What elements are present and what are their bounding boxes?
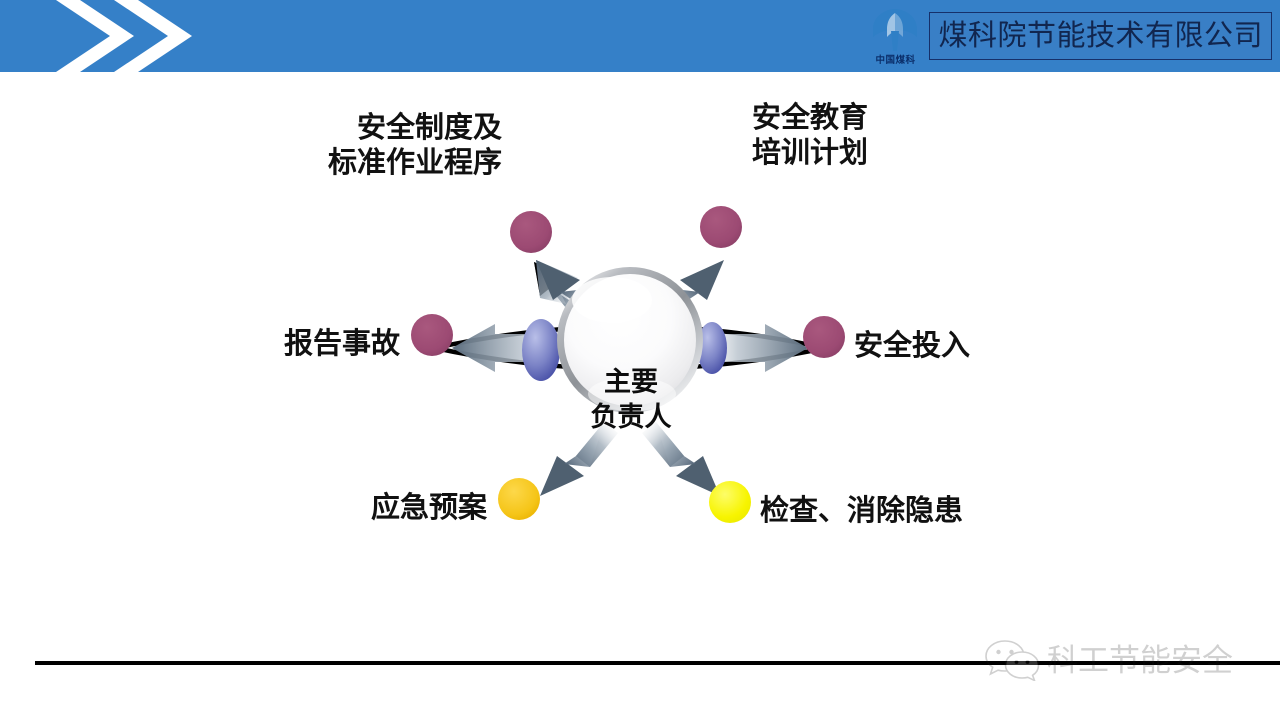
- node-top-right-label: 安全教育 培训计划: [752, 100, 1042, 170]
- node-top-right-dot[interactable]: [700, 206, 742, 248]
- header-bar: 中国煤科 煤科院节能技术有限公司: [0, 0, 1280, 72]
- logo-caption: 中国煤科: [867, 56, 923, 66]
- hub-label-line1: 主要: [555, 365, 707, 400]
- watermark-text: 科工节能安全: [1047, 644, 1233, 678]
- company-name: 煤科院节能技术有限公司: [938, 20, 1263, 50]
- hub-label-line2: 负责人: [555, 400, 707, 435]
- node-left-label: 报告事故: [120, 326, 400, 361]
- wechat-icon: [985, 637, 1041, 685]
- node-right-dot[interactable]: [803, 316, 845, 358]
- node-bottom-left-dot[interactable]: [498, 478, 540, 520]
- node-right-label: 安全投入: [854, 328, 1134, 363]
- node-bottom-right-dot[interactable]: [709, 481, 751, 523]
- company-name-box: 煤科院节能技术有限公司: [929, 12, 1272, 60]
- node-top-left-dot[interactable]: [510, 211, 552, 253]
- node-bottom-right-label: 检查、消除隐患: [760, 493, 1080, 528]
- diagram-canvas: 主要 负责人 安全制度及 标准作业程序 安全教育 培训计划 报告事故 安全投入 …: [0, 72, 1280, 642]
- node-top-left-label: 安全制度及 标准作业程序: [222, 110, 502, 180]
- node-left-dot[interactable]: [411, 314, 453, 356]
- node-bottom-left-label: 应急预案: [207, 490, 487, 525]
- company-logo-group: 中国煤科 煤科院节能技术有限公司: [867, 5, 1272, 67]
- hub-label: 主要 负责人: [555, 365, 707, 435]
- china-coal-logo-icon: 中国煤科: [867, 7, 923, 65]
- footer-watermark: 科工节能安全: [985, 637, 1233, 685]
- double-chevron-right-icon: [48, 0, 208, 72]
